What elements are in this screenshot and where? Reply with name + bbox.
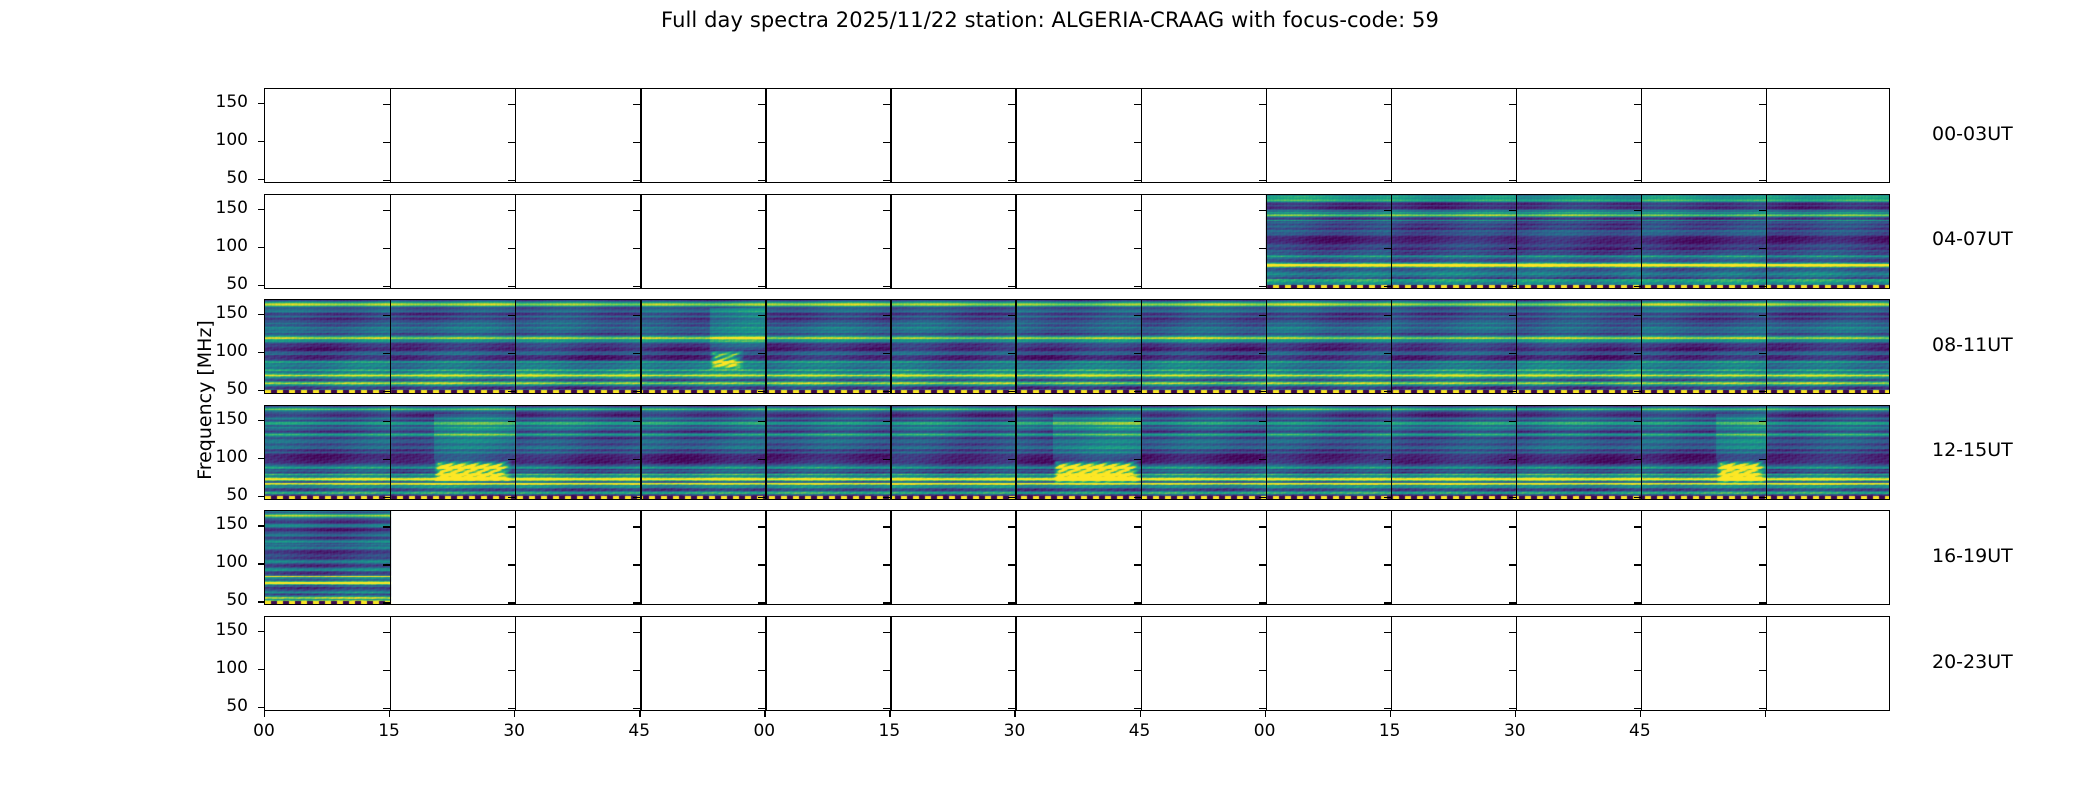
- y-tick-mark: [1509, 142, 1516, 143]
- y-tick-mark: [1759, 421, 1766, 422]
- y-tick-mark: [1259, 248, 1266, 249]
- segment-separator: [765, 406, 766, 499]
- row-plot-area[interactable]: [264, 616, 1890, 711]
- segment-separator: [640, 195, 641, 288]
- y-tick-mark: [633, 210, 640, 211]
- y-tick-mark: [633, 286, 640, 287]
- y-tick-mark: [1134, 353, 1141, 354]
- y-tick-mark: [383, 142, 390, 143]
- y-tick-mark: [1384, 459, 1391, 460]
- y-tick-mark: [883, 286, 890, 287]
- y-tick-mark: [1008, 353, 1015, 354]
- y-tick-mark: [1384, 391, 1391, 392]
- y-tick-label: 50: [196, 485, 248, 505]
- segment-separator: [1266, 89, 1267, 182]
- x-tick-mark: [764, 711, 765, 717]
- y-tick-mark: [1509, 286, 1516, 287]
- y-tick-mark: [258, 631, 264, 632]
- y-tick-mark: [1134, 286, 1141, 287]
- row-time-label: 12-15UT: [1932, 439, 2013, 461]
- segment-separator: [1391, 511, 1392, 604]
- y-tick-label: 100: [196, 447, 248, 467]
- segment-separator: [1391, 195, 1392, 288]
- y-tick-mark: [1008, 286, 1015, 287]
- y-tick-mark: [383, 497, 390, 498]
- x-tick-mark: [1515, 711, 1516, 717]
- y-tick-mark: [508, 459, 515, 460]
- segment-separator: [1641, 617, 1642, 710]
- y-tick-mark: [1634, 497, 1641, 498]
- y-tick-label: 100: [196, 236, 248, 256]
- row-plot-area[interactable]: [264, 194, 1890, 289]
- y-tick-mark: [1008, 248, 1015, 249]
- y-tick-mark: [383, 286, 390, 287]
- y-tick-mark: [1759, 104, 1766, 105]
- y-tick-mark: [508, 526, 515, 527]
- y-tick-mark: [1008, 315, 1015, 316]
- y-tick-mark: [383, 708, 390, 709]
- x-tick-label: 00: [744, 721, 784, 741]
- y-tick-mark: [508, 602, 515, 603]
- y-tick-mark: [1259, 497, 1266, 498]
- y-tick-mark: [883, 353, 890, 354]
- y-tick-label: 150: [196, 303, 248, 323]
- y-tick-mark: [1509, 210, 1516, 211]
- segment-separator: [640, 300, 641, 393]
- y-tick-mark: [1509, 180, 1516, 181]
- y-tick-mark: [1134, 180, 1141, 181]
- x-tick-mark: [1640, 711, 1641, 717]
- y-tick-mark: [508, 391, 515, 392]
- y-tick-mark: [258, 141, 264, 142]
- segment-separator: [1766, 195, 1767, 288]
- y-tick-mark: [1759, 180, 1766, 181]
- y-tick-mark: [1509, 315, 1516, 316]
- y-tick-mark: [1634, 564, 1641, 565]
- y-tick-mark: [758, 632, 765, 633]
- segment-separator: [1141, 195, 1142, 288]
- y-tick-mark: [508, 632, 515, 633]
- y-tick-mark: [633, 180, 640, 181]
- x-tick-label: 15: [1370, 721, 1410, 741]
- y-tick-mark: [1008, 421, 1015, 422]
- x-tick-label: 00: [1245, 721, 1285, 741]
- segment-separator: [1141, 89, 1142, 182]
- segment-separator: [1516, 406, 1517, 499]
- row-plot-area[interactable]: [264, 299, 1890, 394]
- segment-separator: [640, 406, 641, 499]
- y-tick-mark: [383, 315, 390, 316]
- y-tick-mark: [1634, 210, 1641, 211]
- y-tick-mark: [1384, 286, 1391, 287]
- y-tick-mark: [258, 601, 264, 602]
- y-tick-mark: [633, 459, 640, 460]
- spectrogram-row: 1501005012-15UT: [264, 405, 1890, 500]
- row-time-label: 04-07UT: [1932, 228, 2013, 250]
- y-tick-mark: [633, 104, 640, 105]
- y-tick-mark: [758, 497, 765, 498]
- y-tick-mark: [883, 564, 890, 565]
- y-tick-mark: [1008, 180, 1015, 181]
- y-tick-mark: [1384, 602, 1391, 603]
- y-tick-mark: [883, 210, 890, 211]
- row-plot-area[interactable]: [264, 88, 1890, 183]
- y-tick-mark: [508, 353, 515, 354]
- x-tick-mark: [389, 711, 390, 717]
- y-tick-mark: [1384, 180, 1391, 181]
- x-tick-label: 30: [994, 721, 1034, 741]
- y-tick-label: 150: [196, 514, 248, 534]
- y-tick-mark: [1759, 602, 1766, 603]
- y-tick-mark: [508, 564, 515, 565]
- y-tick-label: 150: [196, 620, 248, 640]
- y-tick-mark: [1259, 315, 1266, 316]
- y-tick-mark: [1134, 142, 1141, 143]
- spectrogram-row: 1501005016-19UT: [264, 510, 1890, 605]
- y-tick-mark: [1134, 248, 1141, 249]
- segment-separator: [1766, 406, 1767, 499]
- segment-separator: [1641, 89, 1642, 182]
- segment-separator: [1141, 300, 1142, 393]
- segment-separator: [640, 617, 641, 710]
- y-tick-mark: [758, 180, 765, 181]
- segment-separator: [1766, 300, 1767, 393]
- x-tick-mark: [639, 711, 640, 717]
- y-tick-mark: [1259, 459, 1266, 460]
- segment-separator: [765, 89, 766, 182]
- x-tick-mark: [889, 711, 890, 717]
- segment-separator: [390, 195, 391, 288]
- y-tick-mark: [1008, 670, 1015, 671]
- y-tick-mark: [1759, 286, 1766, 287]
- y-tick-mark: [1509, 526, 1516, 527]
- y-tick-mark: [883, 602, 890, 603]
- y-tick-mark: [508, 315, 515, 316]
- y-tick-mark: [1384, 353, 1391, 354]
- segment-separator: [1266, 195, 1267, 288]
- y-tick-mark: [1384, 708, 1391, 709]
- y-tick-mark: [1384, 104, 1391, 105]
- segment-separator: [390, 406, 391, 499]
- y-tick-mark: [1008, 142, 1015, 143]
- segment-separator: [890, 511, 891, 604]
- y-tick-mark: [758, 421, 765, 422]
- y-tick-mark: [1509, 708, 1516, 709]
- y-tick-mark: [1259, 353, 1266, 354]
- segment-separator: [640, 89, 641, 182]
- segment-separator: [1391, 89, 1392, 182]
- segment-separator: [890, 617, 891, 710]
- y-tick-mark: [883, 459, 890, 460]
- y-tick-mark: [1509, 353, 1516, 354]
- y-tick-mark: [633, 670, 640, 671]
- y-tick-mark: [883, 708, 890, 709]
- y-tick-mark: [1634, 670, 1641, 671]
- y-tick-mark: [758, 286, 765, 287]
- spectrogram-row: 1501005000-03UT: [264, 88, 1890, 183]
- y-tick-mark: [1634, 526, 1641, 527]
- y-tick-mark: [383, 210, 390, 211]
- y-tick-mark: [758, 459, 765, 460]
- y-tick-mark: [1634, 180, 1641, 181]
- y-tick-mark: [633, 564, 640, 565]
- y-tick-mark: [758, 670, 765, 671]
- y-tick-mark: [1008, 459, 1015, 460]
- y-tick-mark: [1509, 391, 1516, 392]
- y-tick-mark: [1509, 104, 1516, 105]
- segment-separator: [1266, 511, 1267, 604]
- y-tick-mark: [1634, 353, 1641, 354]
- y-tick-mark: [1384, 315, 1391, 316]
- y-tick-mark: [508, 670, 515, 671]
- y-tick-mark: [758, 708, 765, 709]
- y-tick-mark: [1259, 526, 1266, 527]
- spectrogram-row: 1501005004-07UT: [264, 194, 1890, 289]
- y-tick-label: 50: [196, 590, 248, 610]
- y-tick-mark: [1759, 210, 1766, 211]
- segment-separator: [390, 511, 391, 604]
- row-plot-area[interactable]: [264, 510, 1890, 605]
- segment-separator: [1015, 195, 1016, 288]
- y-tick-mark: [1259, 632, 1266, 633]
- y-tick-mark: [383, 602, 390, 603]
- segment-separator: [765, 511, 766, 604]
- x-tick-mark: [1265, 711, 1266, 717]
- y-tick-mark: [1634, 315, 1641, 316]
- segment-separator: [515, 406, 516, 499]
- y-tick-mark: [258, 420, 264, 421]
- segment-separator: [390, 300, 391, 393]
- segment-separator: [1141, 511, 1142, 604]
- y-tick-mark: [1259, 708, 1266, 709]
- row-time-label: 08-11UT: [1932, 334, 2013, 356]
- y-tick-mark: [258, 563, 264, 564]
- y-tick-mark: [383, 391, 390, 392]
- y-tick-mark: [633, 353, 640, 354]
- y-tick-mark: [633, 497, 640, 498]
- x-tick-mark: [1765, 711, 1766, 717]
- y-tick-mark: [1509, 632, 1516, 633]
- x-tick-label: 15: [369, 721, 409, 741]
- y-tick-mark: [1509, 459, 1516, 460]
- y-tick-mark: [883, 497, 890, 498]
- spectrogram-figure: Full day spectra 2025/11/22 station: ALG…: [0, 0, 2100, 800]
- y-tick-label: 100: [196, 658, 248, 678]
- y-tick-mark: [1008, 526, 1015, 527]
- y-tick-mark: [758, 353, 765, 354]
- y-tick-mark: [1259, 180, 1266, 181]
- y-tick-mark: [1634, 391, 1641, 392]
- y-tick-mark: [508, 104, 515, 105]
- y-tick-mark: [1384, 142, 1391, 143]
- segment-separator: [1391, 617, 1392, 710]
- segment-separator: [1641, 195, 1642, 288]
- y-tick-mark: [1759, 353, 1766, 354]
- y-tick-mark: [1134, 210, 1141, 211]
- segment-separator: [390, 89, 391, 182]
- y-tick-mark: [258, 103, 264, 104]
- segment-separator: [640, 511, 641, 604]
- y-tick-mark: [1008, 602, 1015, 603]
- segment-separator: [1516, 617, 1517, 710]
- segment-separator: [1015, 617, 1016, 710]
- y-tick-mark: [383, 632, 390, 633]
- y-tick-mark: [1008, 210, 1015, 211]
- y-tick-mark: [1134, 564, 1141, 565]
- y-tick-mark: [1509, 497, 1516, 498]
- y-tick-mark: [1384, 632, 1391, 633]
- segment-separator: [1015, 406, 1016, 499]
- spectrogram-row: 1501005020-23UT: [264, 616, 1890, 711]
- row-time-label: 16-19UT: [1932, 545, 2013, 567]
- segment-separator: [1015, 300, 1016, 393]
- y-tick-mark: [1759, 391, 1766, 392]
- segment-separator: [1766, 617, 1767, 710]
- x-tick-mark: [264, 711, 265, 717]
- y-tick-label: 50: [196, 274, 248, 294]
- y-tick-mark: [758, 104, 765, 105]
- y-tick-mark: [1634, 459, 1641, 460]
- y-tick-mark: [1134, 391, 1141, 392]
- y-tick-mark: [1134, 104, 1141, 105]
- y-tick-mark: [1759, 708, 1766, 709]
- segment-separator: [765, 195, 766, 288]
- y-tick-mark: [633, 526, 640, 527]
- y-tick-mark: [633, 708, 640, 709]
- y-tick-mark: [1634, 248, 1641, 249]
- y-tick-mark: [758, 526, 765, 527]
- segment-separator: [1766, 511, 1767, 604]
- y-tick-mark: [1634, 142, 1641, 143]
- y-tick-mark: [883, 670, 890, 671]
- y-tick-mark: [258, 314, 264, 315]
- x-tick-label: 45: [619, 721, 659, 741]
- y-tick-label: 50: [196, 696, 248, 716]
- row-time-label: 00-03UT: [1932, 123, 2013, 145]
- y-tick-mark: [1134, 315, 1141, 316]
- y-tick-mark: [633, 142, 640, 143]
- y-tick-mark: [883, 632, 890, 633]
- y-tick-mark: [508, 210, 515, 211]
- y-tick-mark: [883, 142, 890, 143]
- y-tick-mark: [758, 564, 765, 565]
- y-tick-mark: [1134, 459, 1141, 460]
- segment-separator: [1641, 511, 1642, 604]
- y-tick-mark: [258, 707, 264, 708]
- y-tick-mark: [1259, 210, 1266, 211]
- y-tick-mark: [883, 248, 890, 249]
- y-tick-mark: [508, 421, 515, 422]
- y-tick-mark: [1634, 708, 1641, 709]
- segment-separator: [1266, 406, 1267, 499]
- y-tick-mark: [1384, 421, 1391, 422]
- segment-separator: [890, 89, 891, 182]
- y-tick-mark: [1259, 286, 1266, 287]
- spectrogram-row: 1501005008-11UT: [264, 299, 1890, 394]
- y-tick-mark: [258, 209, 264, 210]
- y-tick-mark: [1384, 564, 1391, 565]
- y-tick-mark: [508, 286, 515, 287]
- segment-separator: [1641, 406, 1642, 499]
- y-tick-mark: [633, 248, 640, 249]
- y-tick-mark: [508, 248, 515, 249]
- y-tick-label: 50: [196, 168, 248, 188]
- x-tick-label: 45: [1620, 721, 1660, 741]
- row-plot-area[interactable]: [264, 405, 1890, 500]
- y-tick-mark: [1008, 708, 1015, 709]
- y-tick-mark: [258, 525, 264, 526]
- y-tick-mark: [758, 248, 765, 249]
- y-tick-mark: [1634, 602, 1641, 603]
- segment-separator: [515, 300, 516, 393]
- y-tick-mark: [383, 670, 390, 671]
- y-tick-mark: [1008, 564, 1015, 565]
- y-tick-label: 100: [196, 341, 248, 361]
- y-tick-mark: [1008, 104, 1015, 105]
- y-tick-mark: [508, 180, 515, 181]
- y-tick-mark: [1259, 421, 1266, 422]
- y-tick-mark: [883, 315, 890, 316]
- y-tick-mark: [1759, 248, 1766, 249]
- y-tick-mark: [1134, 632, 1141, 633]
- segment-separator: [1516, 195, 1517, 288]
- segment-separator: [515, 511, 516, 604]
- x-tick-label: 30: [494, 721, 534, 741]
- y-tick-mark: [1634, 104, 1641, 105]
- figure-title: Full day spectra 2025/11/22 station: ALG…: [0, 8, 2100, 32]
- segment-separator: [1266, 300, 1267, 393]
- y-tick-mark: [633, 602, 640, 603]
- y-tick-mark: [258, 669, 264, 670]
- y-tick-mark: [1634, 632, 1641, 633]
- segment-separator: [1015, 89, 1016, 182]
- segment-separator: [1766, 89, 1767, 182]
- y-tick-mark: [258, 352, 264, 353]
- segment-separator: [515, 195, 516, 288]
- y-tick-mark: [1259, 142, 1266, 143]
- y-tick-mark: [1259, 670, 1266, 671]
- y-tick-mark: [1134, 526, 1141, 527]
- y-tick-mark: [883, 391, 890, 392]
- segment-separator: [1141, 406, 1142, 499]
- segment-separator: [1516, 89, 1517, 182]
- y-tick-mark: [1384, 670, 1391, 671]
- y-tick-mark: [258, 247, 264, 248]
- segment-separator: [1391, 406, 1392, 499]
- x-tick-label: 45: [1120, 721, 1160, 741]
- y-tick-mark: [1759, 670, 1766, 671]
- y-tick-mark: [1134, 421, 1141, 422]
- y-tick-mark: [758, 142, 765, 143]
- x-tick-mark: [1140, 711, 1141, 717]
- y-tick-mark: [1759, 564, 1766, 565]
- y-tick-mark: [1008, 632, 1015, 633]
- y-tick-mark: [1134, 708, 1141, 709]
- y-tick-mark: [758, 210, 765, 211]
- segment-separator: [515, 617, 516, 710]
- segment-separator: [1015, 511, 1016, 604]
- y-tick-mark: [258, 390, 264, 391]
- y-tick-mark: [633, 632, 640, 633]
- y-tick-mark: [633, 315, 640, 316]
- y-tick-mark: [758, 602, 765, 603]
- y-tick-mark: [1759, 497, 1766, 498]
- x-tick-mark: [1390, 711, 1391, 717]
- y-tick-mark: [1008, 497, 1015, 498]
- segment-separator: [1516, 300, 1517, 393]
- y-tick-mark: [383, 180, 390, 181]
- y-tick-mark: [508, 708, 515, 709]
